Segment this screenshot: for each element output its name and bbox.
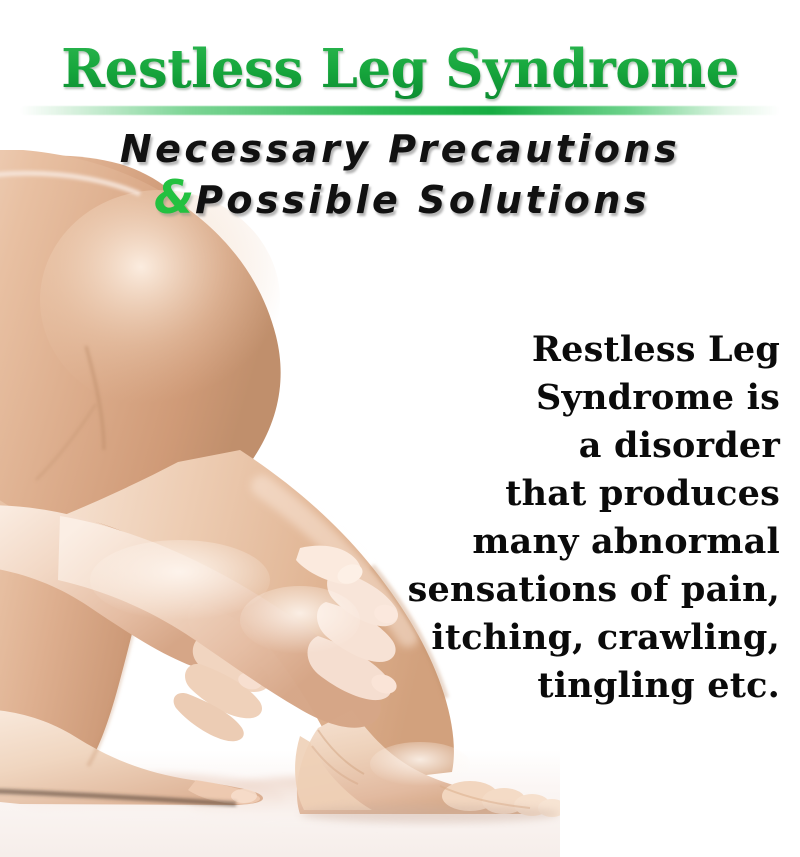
copy-line: that produces: [310, 470, 780, 518]
poster-canvas: Restless Leg Syndrome Necessary Precauti…: [0, 0, 800, 857]
subtitle-line-1: Necessary Precautions: [120, 127, 680, 171]
subtitle-line-2: Possible Solutions: [195, 178, 650, 222]
ampersand-accent: &: [154, 170, 195, 224]
page-title: Restless Leg Syndrome: [0, 0, 800, 100]
header: Restless Leg Syndrome Necessary Precauti…: [0, 0, 800, 224]
copy-line: a disorder: [310, 422, 780, 470]
title-divider: [20, 106, 780, 115]
copy-line: tingling etc.: [310, 662, 780, 710]
body-paragraph: Restless Leg Syndrome is a disorder that…: [310, 326, 780, 710]
copy-line: sensations of pain,: [310, 566, 780, 614]
subtitle-line-2-wrap: &Possible Solutions: [0, 173, 800, 224]
copy-line: Syndrome is: [310, 374, 780, 422]
copy-line: many abnormal: [310, 518, 780, 566]
subtitle: Necessary Precautions &Possible Solution…: [0, 115, 800, 224]
copy-line: Restless Leg: [310, 326, 780, 374]
copy-line: itching, crawling,: [310, 614, 780, 662]
